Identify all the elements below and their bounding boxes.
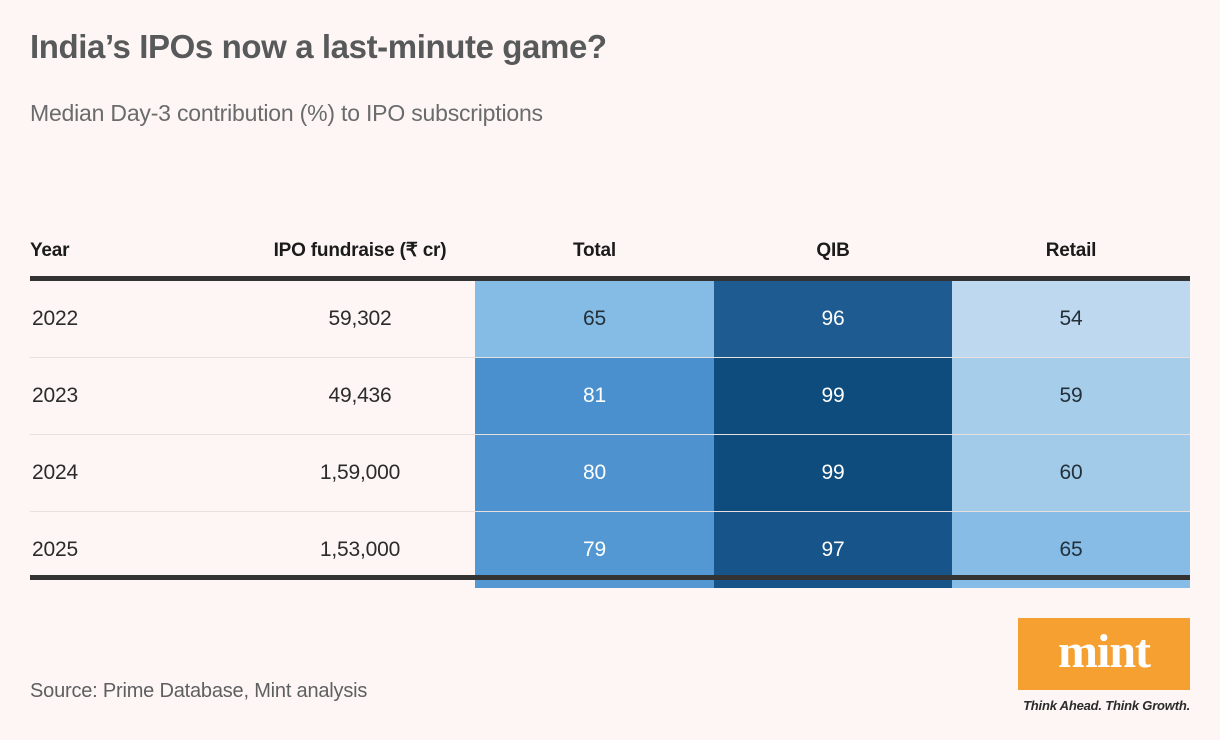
ipo-subscription-table: Year IPO fundraise (₹ cr) Total QIB Reta… (30, 190, 1190, 588)
table-row: 20241,59,000809960 (30, 435, 1190, 512)
cell-fundraise: 1,59,000 (245, 435, 475, 512)
cell-qib: 99 (714, 435, 952, 512)
mint-wordmark: mint (1058, 628, 1150, 676)
page-title: India’s IPOs now a last-minute game? (30, 28, 607, 66)
column-header-qib: QIB (714, 190, 952, 276)
infographic-canvas: India’s IPOs now a last-minute game? Med… (0, 0, 1220, 740)
mint-logo: mint Think Ahead. Think Growth. (1018, 618, 1190, 713)
cell-fundraise: 49,436 (245, 358, 475, 435)
mint-tagline: Think Ahead. Think Growth. (1018, 698, 1190, 713)
cell-qib: 99 (714, 358, 952, 435)
cell-fundraise: 59,302 (245, 281, 475, 358)
cell-year: 2022 (30, 281, 245, 358)
table-header-row: Year IPO fundraise (₹ cr) Total QIB Reta… (30, 190, 1190, 276)
cell-retail: 59 (952, 358, 1190, 435)
source-note: Source: Prime Database, Mint analysis (30, 680, 367, 703)
table-row: 202349,436819959 (30, 358, 1190, 435)
column-header-fundraise: IPO fundraise (₹ cr) (245, 190, 475, 276)
cell-retail: 54 (952, 281, 1190, 358)
cell-total: 80 (475, 435, 714, 512)
cell-qib: 96 (714, 281, 952, 358)
cell-total: 81 (475, 358, 714, 435)
table-header: Year IPO fundraise (₹ cr) Total QIB Reta… (30, 190, 1190, 281)
table-row: 202259,302659654 (30, 281, 1190, 358)
cell-year: 2023 (30, 358, 245, 435)
mint-logo-mark: mint (1018, 618, 1190, 690)
page-subtitle: Median Day-3 contribution (%) to IPO sub… (30, 100, 543, 127)
column-header-total: Total (475, 190, 714, 276)
table-bottom-divider (30, 575, 1190, 580)
table-body: 202259,302659654202349,43681995920241,59… (30, 281, 1190, 588)
column-header-year: Year (30, 190, 245, 276)
cell-year: 2024 (30, 435, 245, 512)
cell-retail: 60 (952, 435, 1190, 512)
column-header-retail: Retail (952, 190, 1190, 276)
data-table-container: Year IPO fundraise (₹ cr) Total QIB Reta… (30, 190, 1190, 588)
cell-total: 65 (475, 281, 714, 358)
